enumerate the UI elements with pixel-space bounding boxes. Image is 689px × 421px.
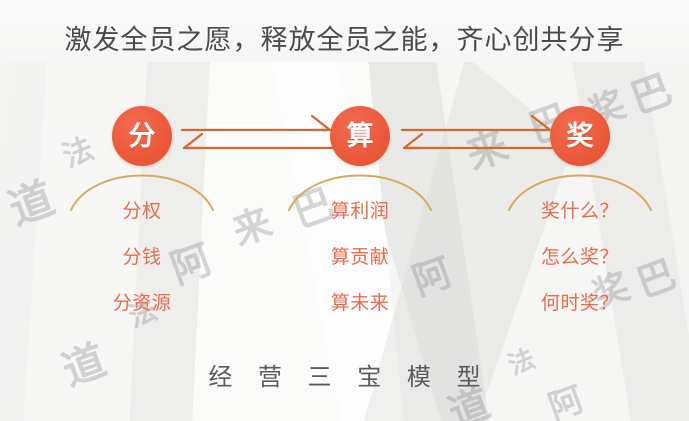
jiang-column-line: 奖什么？ xyxy=(485,196,675,223)
node-fen[interactable]: 分 xyxy=(112,106,172,166)
node-suan[interactable]: 算 xyxy=(330,106,390,166)
arrow-left-suan-jiang xyxy=(404,134,552,148)
arrow-right-suan-jiang xyxy=(402,116,550,130)
jiang-column-line: 怎么奖？ xyxy=(485,242,675,269)
node-jiang-label: 奖 xyxy=(567,123,594,150)
suan-column: 算利润 算贡献 算未来 xyxy=(265,196,455,315)
suan-column-line: 算利润 xyxy=(265,196,455,223)
arrow-right-fen-suan xyxy=(182,116,330,130)
connector-suan-jiang xyxy=(398,112,556,160)
page-title: 激发全员之愿，释放全员之能，齐心创共分享 xyxy=(0,18,689,57)
node-jiang[interactable]: 奖 xyxy=(550,106,610,166)
fen-column-line: 分权 xyxy=(47,196,237,223)
suan-column-line: 算贡献 xyxy=(265,242,455,269)
jiang-column-line: 何时奖？ xyxy=(485,288,675,315)
fen-column-line: 分资源 xyxy=(47,288,237,315)
model-caption: 经 营 三 宝 模 型 xyxy=(0,357,689,392)
node-suan-label: 算 xyxy=(347,123,374,150)
arrow-left-fen-suan xyxy=(184,134,332,148)
slide-canvas: 道法阿来巴道法阿来巴奖巴奖巴道法阿 激发全员之愿，释放全员之能，齐心创共分享 xyxy=(0,0,689,421)
connector-fen-suan xyxy=(178,112,336,160)
fen-column: 分权 分钱 分资源 xyxy=(47,196,237,315)
jiang-column: 奖什么？ 怎么奖？ 何时奖？ xyxy=(485,196,675,315)
node-fen-label: 分 xyxy=(129,123,156,150)
suan-column-line: 算未来 xyxy=(265,288,455,315)
fen-column-line: 分钱 xyxy=(47,242,237,269)
